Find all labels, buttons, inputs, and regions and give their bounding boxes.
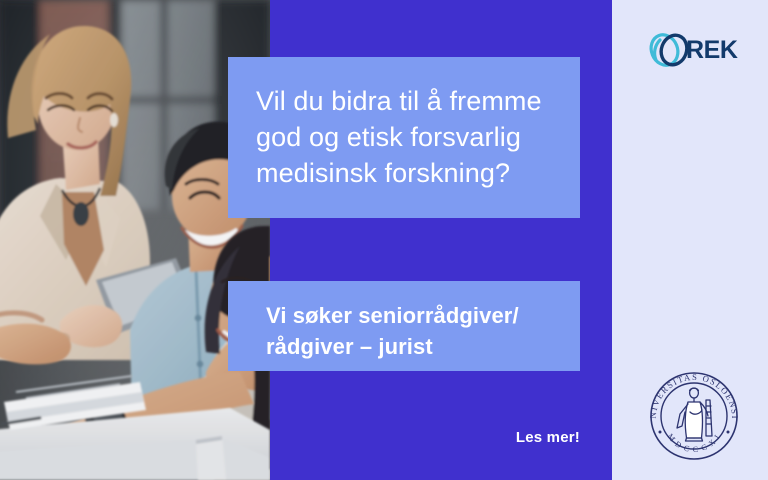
uio-seal-icon: UNIVERSITAS OSLOENSIS M D C C C X I bbox=[644, 366, 744, 466]
job-title-text: Vi søker seniorrådgiver/ rådgiver – juri… bbox=[266, 300, 580, 362]
recruitment-banner: Vil du bidra til å fremme god og etisk f… bbox=[0, 0, 768, 480]
headline-box: Vil du bidra til å fremme god og etisk f… bbox=[228, 57, 580, 218]
apollo-with-lyre-figure bbox=[677, 388, 712, 441]
rek-logo[interactable]: REK bbox=[648, 26, 738, 74]
uio-seal: UNIVERSITAS OSLOENSIS M D C C C X I bbox=[644, 366, 744, 466]
read-more-link[interactable]: Les mer! bbox=[380, 429, 580, 446]
headline-text: Vil du bidra til å fremme god og etisk f… bbox=[256, 83, 580, 191]
rek-wordmark: REK bbox=[686, 36, 738, 65]
job-title-box: Vi søker seniorrådgiver/ rådgiver – juri… bbox=[228, 281, 580, 371]
